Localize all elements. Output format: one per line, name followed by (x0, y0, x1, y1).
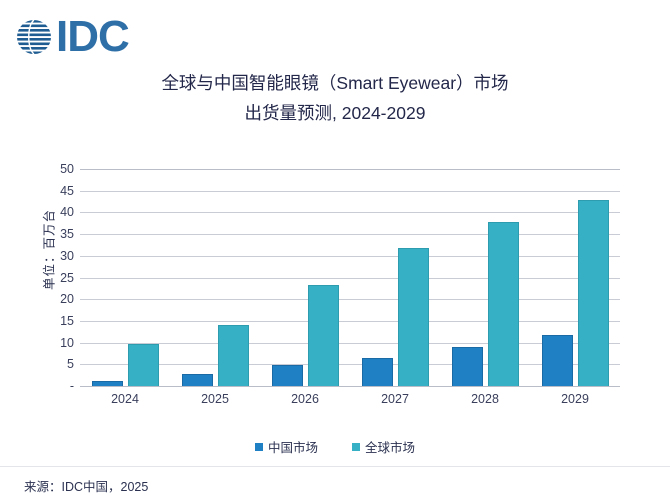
x-axis-tick-label: 2024 (80, 392, 170, 406)
x-axis-tick-label: 2026 (260, 392, 350, 406)
x-axis-line (80, 386, 620, 387)
x-axis-labels: 202420252026202720282029 (80, 392, 620, 414)
y-axis-tick-label: 45 (40, 184, 74, 198)
x-axis-tick-label: 2027 (350, 392, 440, 406)
y-axis-tick-label: - (40, 379, 74, 393)
legend-label: 中国市场 (268, 437, 318, 456)
chart-bars (80, 169, 620, 387)
y-axis-tick-label: 15 (40, 314, 74, 328)
y-axis-tick-label: 5 (40, 357, 74, 371)
bar-global-2025[interactable] (218, 325, 249, 387)
legend-swatch-icon (255, 443, 263, 451)
chart-legend: 中国市场全球市场 (0, 437, 670, 456)
y-axis-ticks: -5101520253035404550 (36, 169, 74, 386)
idc-globe-icon (14, 17, 54, 57)
x-axis-tick-label: 2029 (530, 392, 620, 406)
legend-item-china[interactable]: 中国市场 (255, 437, 318, 456)
footer-divider (0, 466, 670, 467)
legend-item-global[interactable]: 全球市场 (352, 437, 415, 456)
bar-china-2029[interactable] (542, 335, 573, 387)
bar-china-2027[interactable] (362, 358, 393, 387)
y-axis-tick-label: 35 (40, 227, 74, 241)
bar-group-2025 (170, 169, 260, 387)
y-axis-tick-label: 50 (40, 162, 74, 176)
bar-global-2029[interactable] (578, 200, 609, 387)
bar-global-2026[interactable] (308, 285, 339, 387)
bar-global-2024[interactable] (128, 344, 159, 387)
y-axis-tick-label: 10 (40, 336, 74, 350)
bar-global-2028[interactable] (488, 222, 519, 387)
bar-group-2026 (260, 169, 350, 387)
bar-global-2027[interactable] (398, 248, 429, 387)
idc-logo: IDC (14, 12, 129, 62)
source-note: 来源：IDC中国，2025 (24, 476, 148, 495)
y-axis-tick-label: 30 (40, 249, 74, 263)
x-axis-tick-label: 2028 (440, 392, 530, 406)
legend-label: 全球市场 (365, 437, 415, 456)
bar-china-2028[interactable] (452, 347, 483, 387)
bar-group-2028 (440, 169, 530, 387)
bar-group-2029 (530, 169, 620, 387)
y-axis-tick-label: 25 (40, 271, 74, 285)
chart-title: 全球与中国智能眼镜（Smart Eyewear）市场 出货量预测, 2024-2… (0, 68, 670, 128)
y-axis-tick-label: 20 (40, 292, 74, 306)
bar-group-2024 (80, 169, 170, 387)
bar-china-2026[interactable] (272, 365, 303, 387)
bar-group-2027 (350, 169, 440, 387)
chart-title-line2: 出货量预测, 2024-2029 (0, 98, 670, 128)
chart-title-line1: 全球与中国智能眼镜（Smart Eyewear）市场 (161, 73, 508, 93)
x-axis-tick-label: 2025 (170, 392, 260, 406)
idc-logo-text: IDC (56, 15, 129, 59)
chart-plot-area: 单位：百万台 -5101520253035404550 202420252026… (0, 150, 670, 440)
legend-swatch-icon (352, 443, 360, 451)
y-axis-tick-label: 40 (40, 205, 74, 219)
